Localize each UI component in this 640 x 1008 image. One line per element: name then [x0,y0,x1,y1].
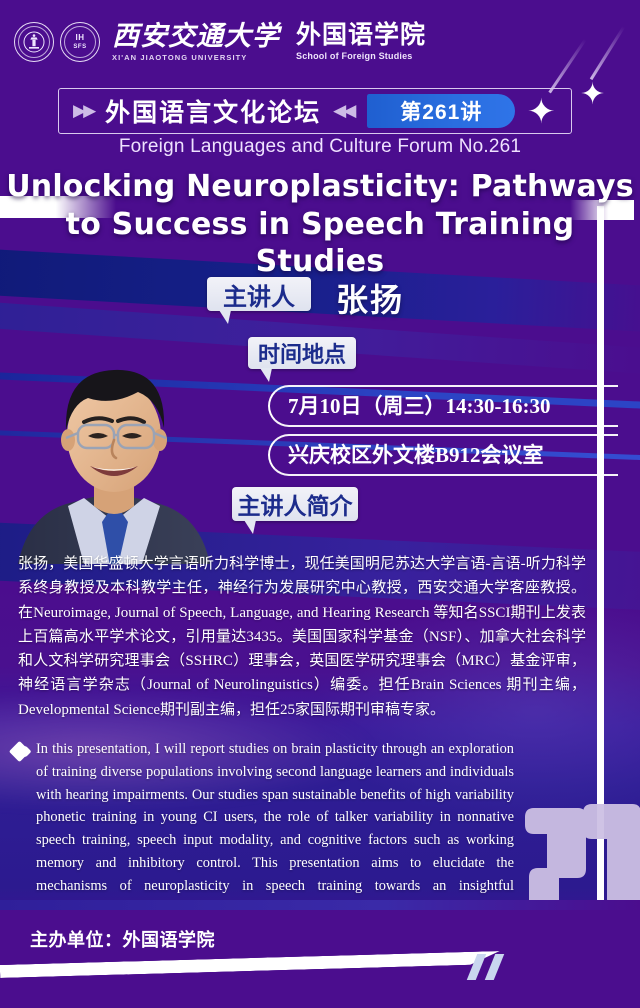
forum-title-cn: 外国语言文化论坛 [105,93,321,129]
speaker-name: 张扬 [336,275,404,321]
forum-banner: ▶▶ 外国语言文化论坛 ◀◀ 第261讲 [58,88,572,134]
organizer-text: 主办单位：外国语学院 [30,926,215,952]
comet-trail-2 [590,26,625,80]
school-name-en: School of Foreign Studies [296,51,426,61]
talk-title-line2: to Success in Speech Training Studies [0,206,640,281]
school-name-block: 外国语学院 School of Foreign Studies [296,23,426,61]
schedule-datetime: 7月10日（周三）14:30-16:30 [268,385,618,427]
school-seal-initials: IH SFS [73,34,86,50]
institution-logo: IH SFS 西安交通大学 XI'AN JIAOTONG UNIVERSITY … [14,22,426,62]
schedule-venue: 兴庆校区外文楼B912会议室 [268,434,618,476]
poster-root: IH SFS 西安交通大学 XI'AN JIAOTONG UNIVERSITY … [0,0,640,1008]
bio-label-chip: 主讲人简介 [232,487,358,521]
schedule-label-chip: 时间地点 [248,337,356,369]
school-seal-icon: IH SFS [60,22,100,62]
university-name-block: 西安交通大学 XI'AN JIAOTONG UNIVERSITY [112,23,280,62]
lecture-number-badge: 第261讲 [367,94,515,128]
school-name-cn: 外国语学院 [296,23,426,48]
speaker-portrait [14,352,214,564]
talk-title: Unlocking Neuroplasticity: Pathways to S… [0,168,640,281]
speaker-bio-text: 张扬，美国华盛顿大学言语听力科学博士，现任美国明尼苏达大学言语-言语-听力科学系… [18,552,586,722]
arrow-left-icon: ◀◀ [333,101,353,121]
university-name-cn: 西安交通大学 [112,23,280,50]
university-name-en: XI'AN JIAOTONG UNIVERSITY [112,53,280,62]
speaker-label-chip: 主讲人 [207,277,311,311]
forum-subtitle-en: Foreign Languages and Culture Forum No.2… [0,136,640,158]
sparkle-star-icon-2: ✦ [580,80,605,110]
talk-title-line1: Unlocking Neuroplasticity: Pathways [6,169,634,204]
university-seal-icon [14,22,54,62]
arrow-right-icon: ▶▶ [73,101,93,121]
